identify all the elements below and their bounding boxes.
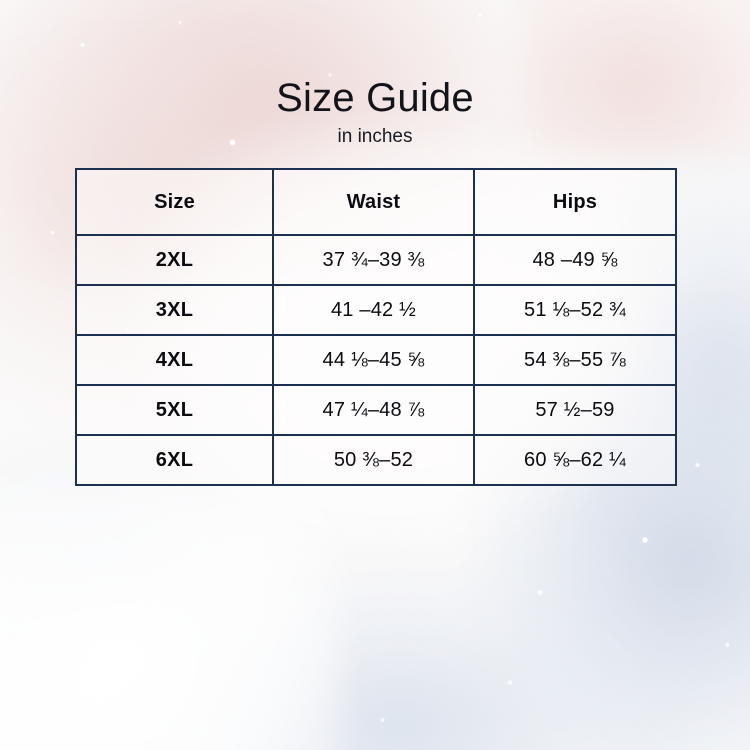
- cell-size: 3XL: [76, 285, 273, 335]
- page-subtitle: in inches: [0, 127, 750, 146]
- cell-hips: 54 ⅜–55 ⅞: [474, 335, 676, 385]
- cell-waist: 50 ⅜–52: [273, 435, 474, 485]
- size-chart-table: Size Waist Hips 2XL 37 ¾–39 ⅜ 48 –49 ⅝ 3…: [75, 168, 677, 486]
- table-row: 2XL 37 ¾–39 ⅜ 48 –49 ⅝: [76, 235, 676, 285]
- table-row: 3XL 41 –42 ½ 51 ⅛–52 ¾: [76, 285, 676, 335]
- cell-size: 5XL: [76, 385, 273, 435]
- cell-size: 6XL: [76, 435, 273, 485]
- table-row: 4XL 44 ⅛–45 ⅝ 54 ⅜–55 ⅞: [76, 335, 676, 385]
- cell-hips: 48 –49 ⅝: [474, 235, 676, 285]
- table-row: 6XL 50 ⅜–52 60 ⅝–62 ¼: [76, 435, 676, 485]
- cell-size: 4XL: [76, 335, 273, 385]
- page-title: Size Guide: [0, 78, 750, 118]
- table-header-row: Size Waist Hips: [76, 169, 676, 235]
- size-guide-canvas: Size Guide in inches Size Waist Hips 2XL…: [0, 0, 750, 750]
- table-row: 5XL 47 ¼–48 ⅞ 57 ½–59: [76, 385, 676, 435]
- cell-waist: 47 ¼–48 ⅞: [273, 385, 474, 435]
- cell-hips: 60 ⅝–62 ¼: [474, 435, 676, 485]
- cell-size: 2XL: [76, 235, 273, 285]
- cell-waist: 37 ¾–39 ⅜: [273, 235, 474, 285]
- cell-waist: 44 ⅛–45 ⅝: [273, 335, 474, 385]
- cell-hips: 57 ½–59: [474, 385, 676, 435]
- cell-hips: 51 ⅛–52 ¾: [474, 285, 676, 335]
- column-header-hips: Hips: [474, 169, 676, 235]
- column-header-waist: Waist: [273, 169, 474, 235]
- cell-waist: 41 –42 ½: [273, 285, 474, 335]
- column-header-size: Size: [76, 169, 273, 235]
